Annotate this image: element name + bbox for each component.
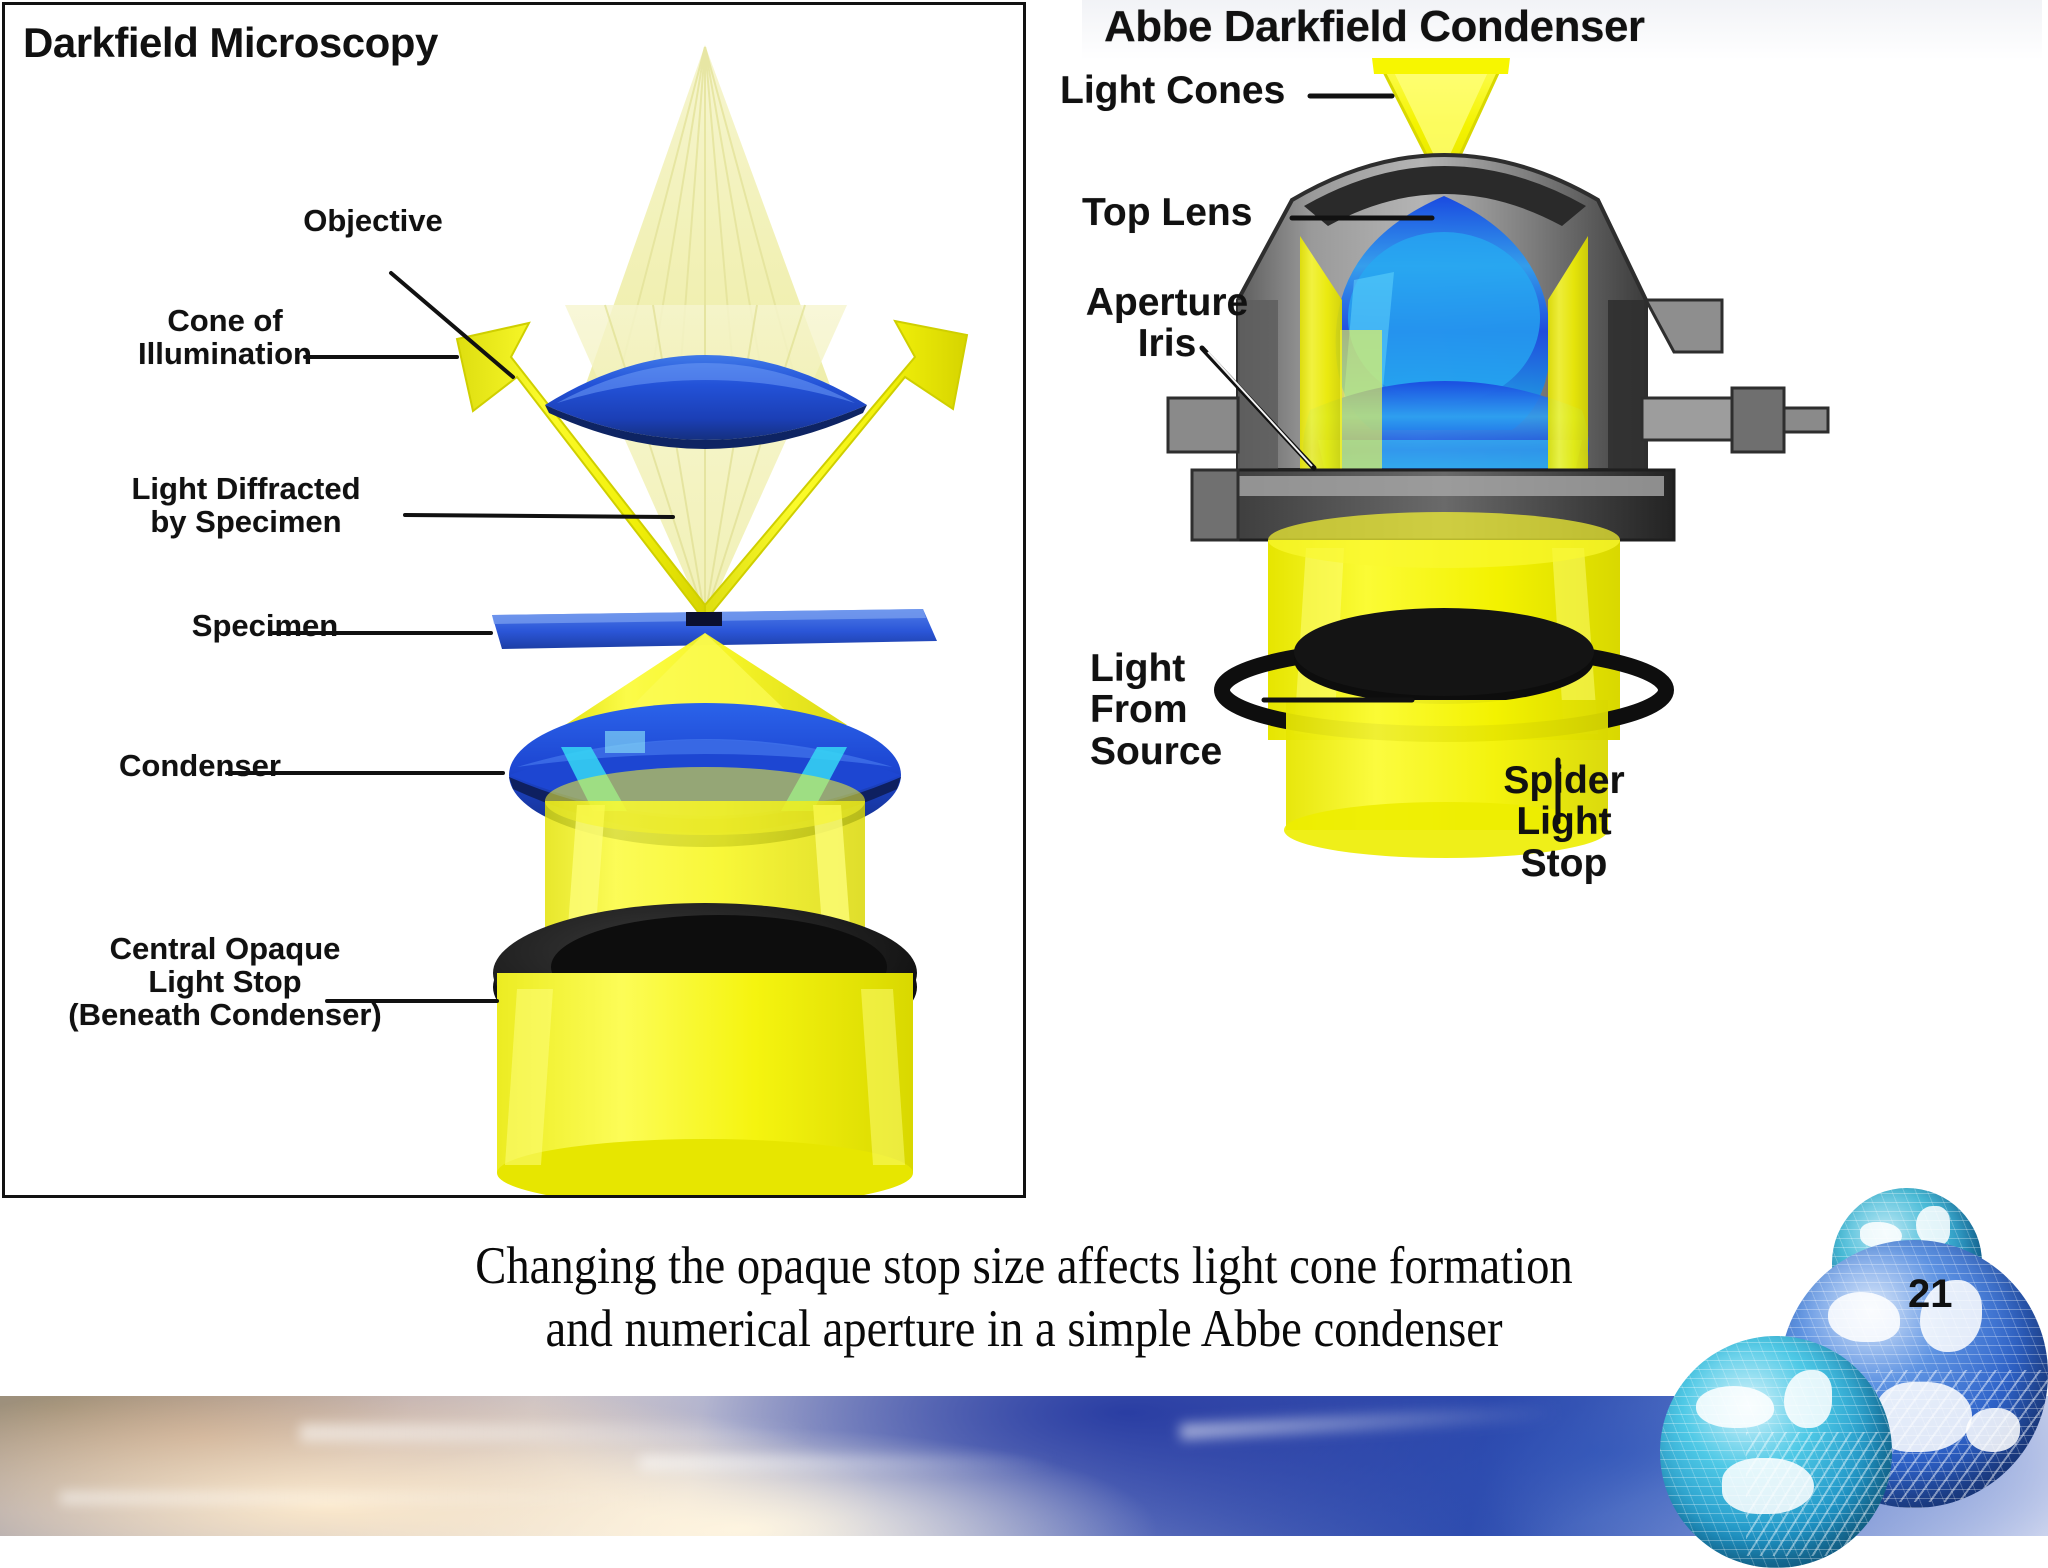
label-aperture-iris: Aperture Iris [1056,282,1278,365]
slide-caption: Changing the opaque stop size affects li… [206,1235,1843,1360]
left-figure-panel: Darkfield Microscopy [2,2,1026,1198]
label-light-diffracted: Light Diffracted by Specimen [101,473,391,539]
label-light-cones: Light Cones [1060,70,1285,111]
slide-root: Darkfield Microscopy [0,0,2048,1536]
right-figure-panel: Abbe Darkfield Condenser [1042,0,2048,1198]
label-objective: Objective [263,205,483,238]
label-central-opaque-light-stop: Central Opaque Light Stop (Beneath Conde… [45,933,405,1032]
figure-row: Darkfield Microscopy [0,0,2048,1200]
abbe-darkfield-condenser-diagram [1042,0,2048,1198]
page-number: 21 [1908,1272,1953,1317]
label-specimen: Specimen [145,610,385,643]
label-condenser: Condenser [85,750,315,783]
label-spider-light-stop: Spider Light Stop [1434,760,1694,884]
globe-bottom-cyan [1660,1336,1892,1568]
globes-graphic [1660,1188,2048,1536]
label-top-lens: Top Lens [1082,192,1252,233]
label-light-from-source: Light From Source [1090,648,1222,772]
label-cone-of-illumination: Cone of Illumination [105,305,345,371]
